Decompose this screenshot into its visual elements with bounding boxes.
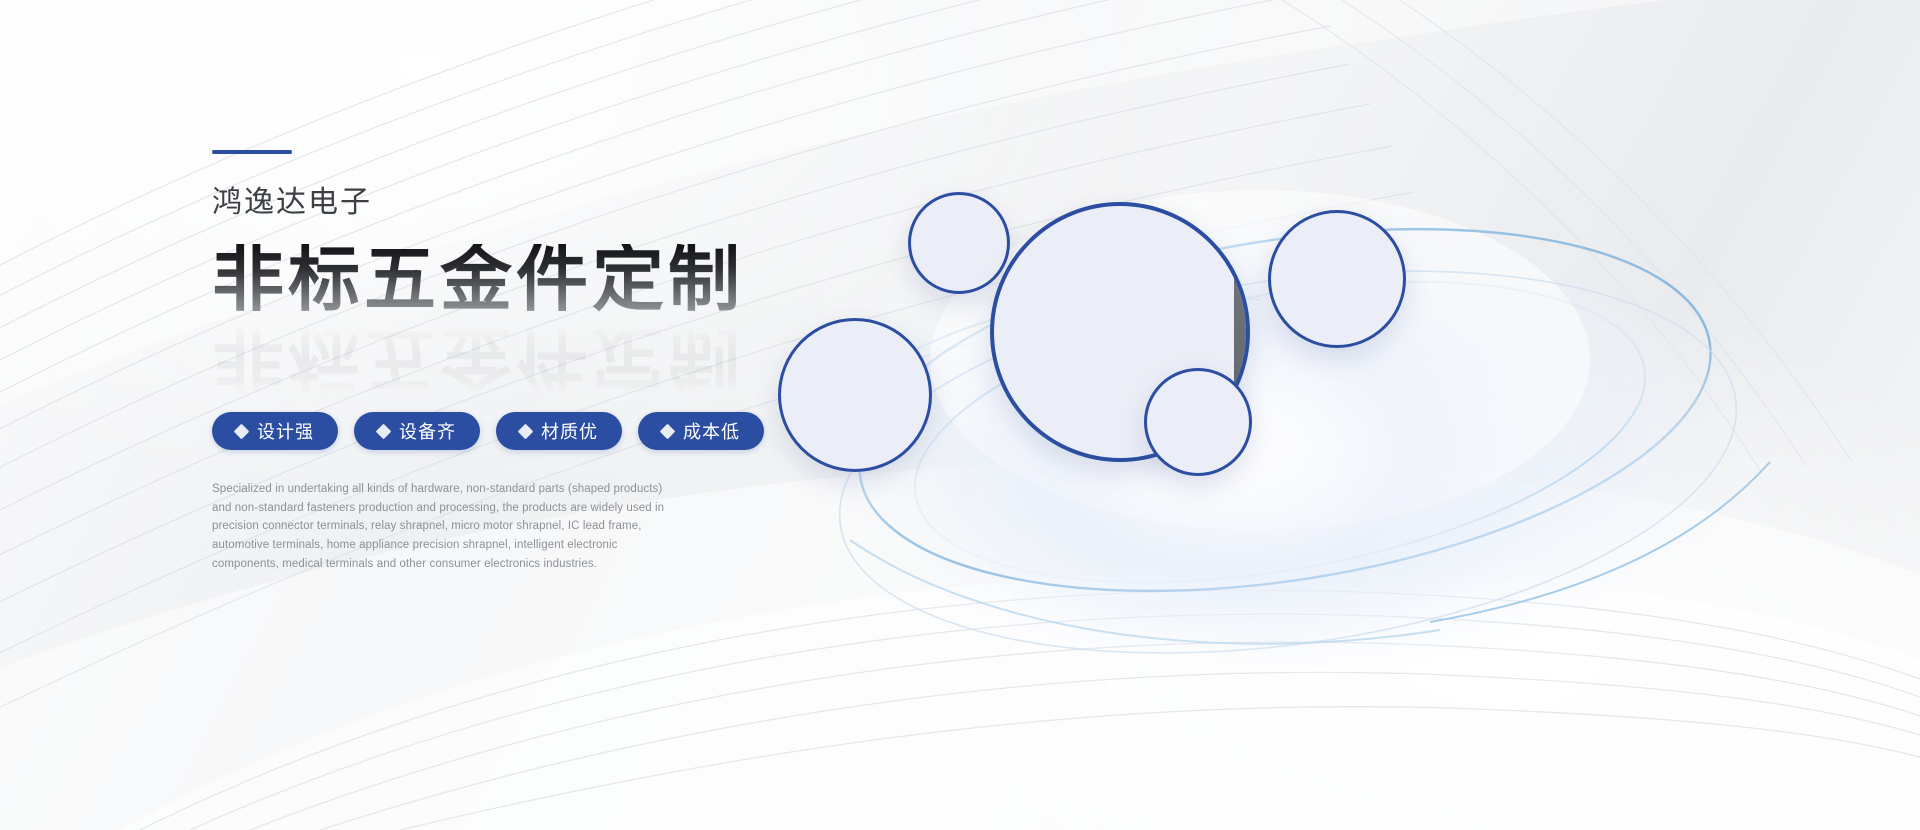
diamond-icon bbox=[376, 423, 392, 439]
product-artwork bbox=[740, 110, 1840, 730]
feature-tag-label: 材质优 bbox=[541, 418, 598, 444]
hero-banner: 鸿逸达电子 非标五金件定制 非标五金件定制 设计强 设备齐 材质优 成本低 bbox=[0, 0, 1920, 830]
feature-tag-design[interactable]: 设计强 bbox=[212, 412, 338, 450]
feature-tag-label: 设计强 bbox=[257, 418, 314, 444]
diamond-icon bbox=[660, 423, 676, 439]
feature-tag-material[interactable]: 材质优 bbox=[496, 412, 622, 450]
diamond-icon bbox=[234, 423, 250, 439]
headline-reflection: 非标五金件定制 bbox=[212, 322, 744, 394]
product-bubble-battery-clamp-pair[interactable] bbox=[778, 318, 932, 472]
feature-tag-label: 设备齐 bbox=[399, 418, 456, 444]
accent-bar bbox=[212, 150, 292, 154]
hero-description: Specialized in undertaking all kinds of … bbox=[212, 480, 678, 573]
feature-tag-equipment[interactable]: 设备齐 bbox=[354, 412, 480, 450]
diamond-icon bbox=[518, 423, 534, 439]
product-bubble-bent-metal-brackets[interactable] bbox=[1144, 368, 1252, 476]
product-bubble-blue-retaining-c-clip[interactable] bbox=[1268, 210, 1406, 348]
feature-tag-label: 成本低 bbox=[683, 418, 740, 444]
